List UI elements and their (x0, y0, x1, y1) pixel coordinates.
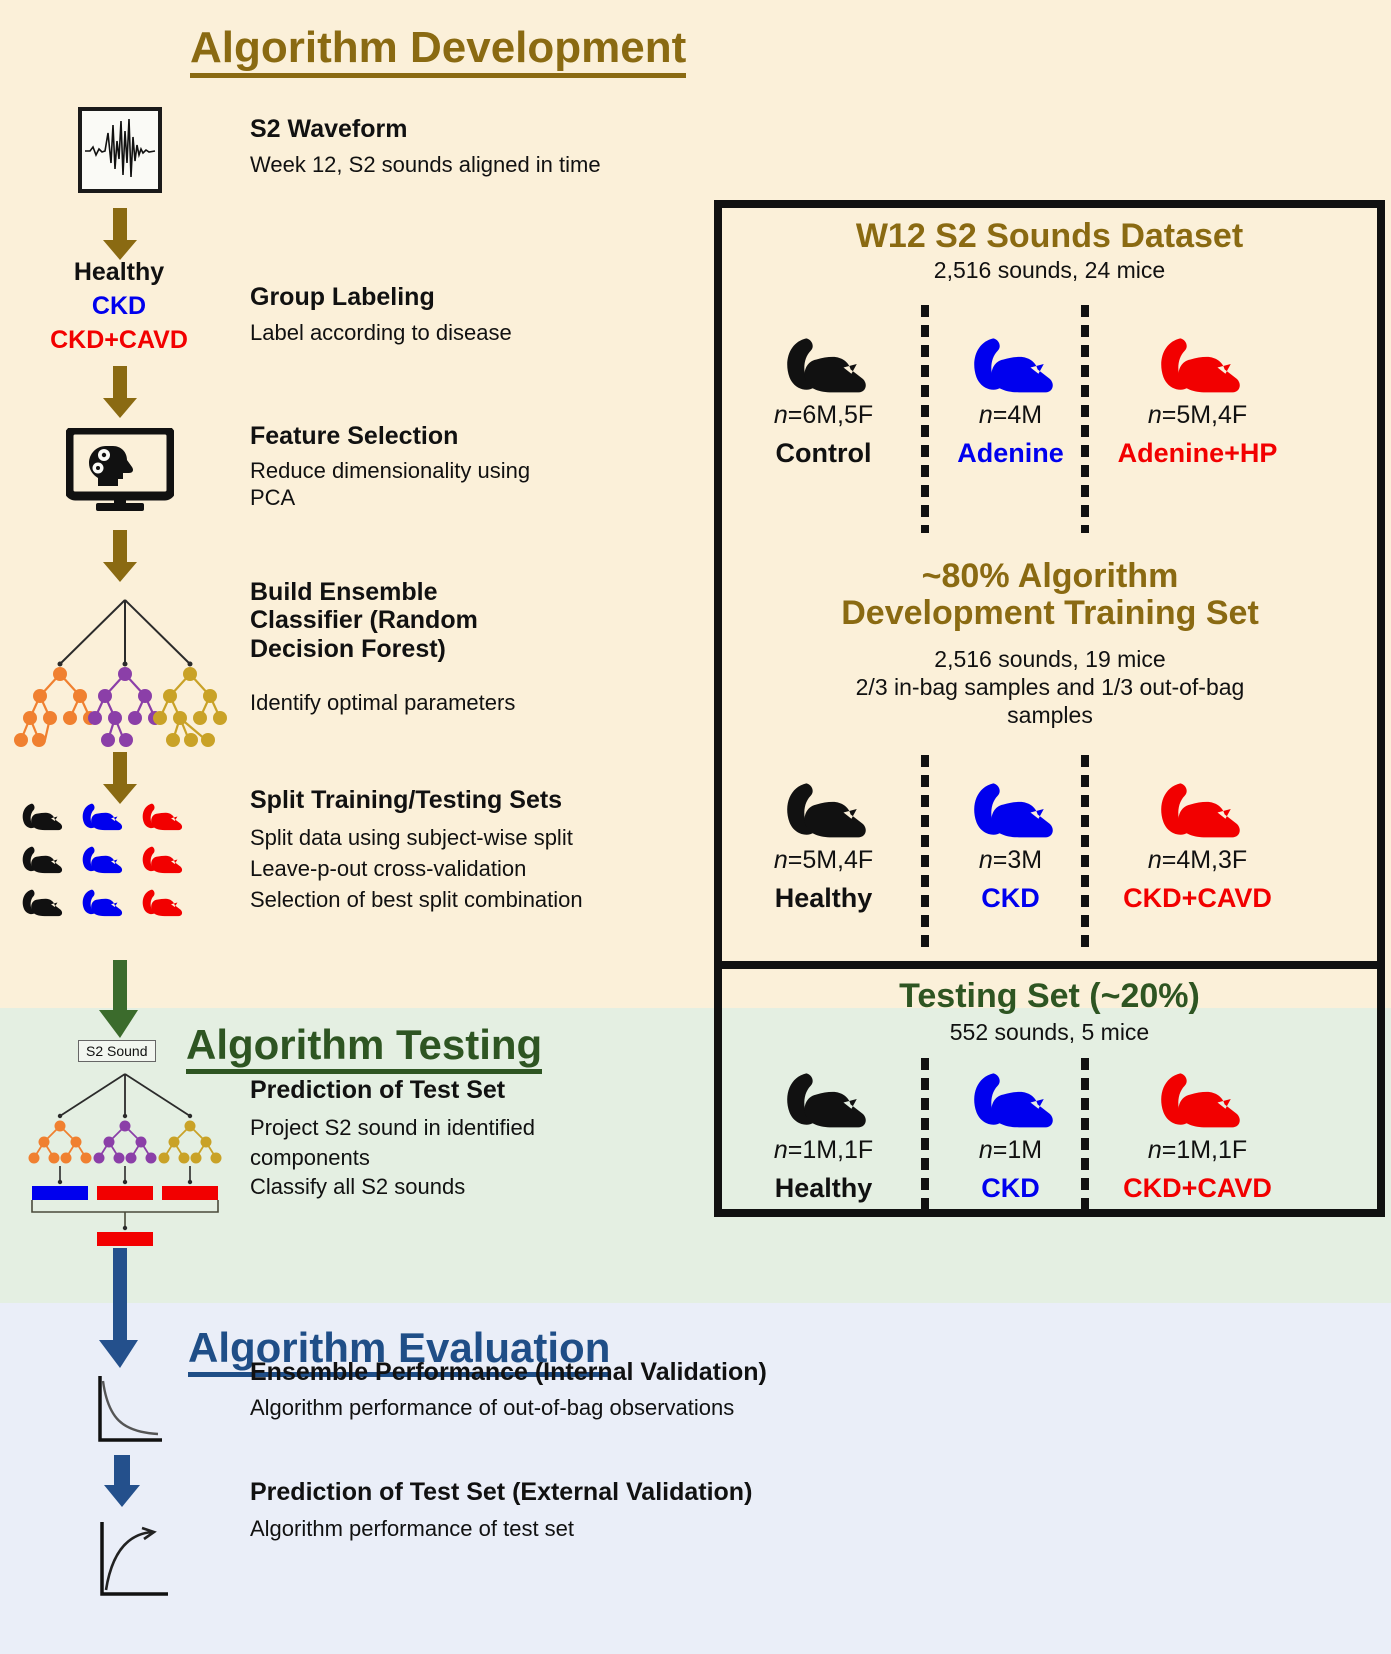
group-label-healthy: Healthy (9, 258, 229, 288)
step-body-split-sets: Split data using subject-wise split Leav… (250, 823, 700, 915)
step-body-prediction-test-set: Project S2 sound in identified component… (250, 1113, 690, 1202)
dataset-column-adenine: n=4M Adenine (917, 325, 1104, 469)
roc-curve-icon (94, 1518, 172, 1611)
dataset-label-adenine-hp: Adenine+HP (1104, 438, 1291, 469)
step-title-feature-selection: Feature Selection (250, 422, 680, 450)
step-title-build-ensemble: Build Ensemble Classifier (Random Decisi… (250, 578, 680, 663)
dataset-column-control: n=6M,5F Control (730, 325, 917, 469)
step-title-split-sets: Split Training/Testing Sets (250, 786, 700, 814)
eval-body-internal-validation: Algorithm performance of out-of-bag obse… (250, 1395, 734, 1421)
mouse-icon-red (1104, 325, 1291, 395)
dataset-n-adenine: n=4M (917, 401, 1104, 430)
training-label-ckd-cavd: CKD+CAVD (1104, 883, 1291, 914)
group-label-ckd: CKD (9, 292, 229, 322)
training-n-healthy: n=5M,4F (730, 846, 917, 875)
dataset-column-adenine-hp: n=5M,4F Adenine+HP (1104, 325, 1291, 469)
step-body-feature-selection: Reduce dimensionality using PCA (250, 458, 670, 512)
dataset-n-adenine-hp: n=5M,4F (1104, 401, 1291, 430)
eval-title-internal-validation: Ensemble Performance (Internal Validatio… (250, 1358, 767, 1387)
panel-subtitle-dataset: 2,516 sounds, 24 mice (714, 256, 1385, 284)
mouse-icon-blue (917, 325, 1104, 395)
step-body-group-labeling: Label according to disease (250, 320, 680, 347)
testing-n-healthy: n=1M,1F (730, 1136, 917, 1165)
step-title-group-labeling: Group Labeling (250, 283, 680, 311)
group-label-ckd-cavd: CKD+CAVD (9, 326, 229, 356)
flow-arrow-7 (100, 1455, 144, 1507)
monitor-brain-gears-icon (66, 428, 174, 512)
eval-body-external-validation: Algorithm performance of test set (250, 1516, 574, 1542)
dataset-label-control: Control (730, 438, 917, 469)
step-body-s2-waveform: Week 12, S2 sounds aligned in time (250, 152, 680, 179)
step-title-s2-waveform: S2 Waveform (250, 115, 670, 143)
mouse-icon-red (1104, 770, 1291, 840)
flow-arrow-6 (96, 1248, 144, 1368)
mice-grid-icon (18, 800, 184, 929)
mouse-icon-blue (917, 1060, 1104, 1130)
flow-arrow-3 (98, 530, 142, 582)
panel-heading-dataset: W12 S2 Sounds Dataset (714, 218, 1385, 255)
waveform-icon (78, 107, 162, 193)
training-n-ckd: n=3M (917, 846, 1104, 875)
dataset-group-row: n=6M,5F Control n=4M Adenine n=5M,4F Ade… (730, 325, 1291, 469)
section-title-testing: Algorithm Testing (186, 1024, 542, 1074)
s2-sound-node: S2 Sound (78, 1040, 156, 1062)
flow-arrow-4 (98, 752, 142, 804)
testing-column-ckd: n=1M CKD (917, 1060, 1104, 1204)
testing-group-row: n=1M,1F Healthy n=1M CKD n=1M,1F CKD+CAV… (730, 1060, 1291, 1204)
testing-column-healthy: n=1M,1F Healthy (730, 1060, 917, 1204)
training-column-ckd-cavd: n=4M,3F CKD+CAVD (1104, 770, 1291, 914)
testing-label-ckd: CKD (917, 1173, 1104, 1204)
training-label-ckd: CKD (917, 883, 1104, 914)
testing-n-ckd-cavd: n=1M,1F (1104, 1136, 1291, 1165)
panel-subtitle-testing: 552 sounds, 5 mice (714, 1018, 1385, 1046)
training-group-row: n=5M,4F Healthy n=3M CKD n=4M,3F CKD+CAV… (730, 770, 1291, 914)
eval-title-external-validation: Prediction of Test Set (External Validat… (250, 1478, 752, 1507)
flow-arrow-1 (98, 208, 142, 260)
testing-label-ckd-cavd: CKD+CAVD (1104, 1173, 1291, 1204)
step-body-build-ensemble: Identify optimal parameters (250, 690, 680, 717)
step-title-prediction-test-set: Prediction of Test Set (250, 1076, 690, 1104)
flow-arrow-2 (98, 366, 142, 418)
mouse-icon-black (730, 1060, 917, 1130)
dataset-n-control: n=6M,5F (730, 401, 917, 430)
figure-root: Algorithm Development Algorithm Testing … (0, 0, 1391, 1654)
testing-n-ckd: n=1M (917, 1136, 1104, 1165)
training-column-healthy: n=5M,4F Healthy (730, 770, 917, 914)
mouse-icon-black (730, 325, 917, 395)
training-n-ckd-cavd: n=4M,3F (1104, 846, 1291, 875)
flow-arrow-5 (96, 960, 144, 1038)
training-column-ckd: n=3M CKD (917, 770, 1104, 914)
training-label-healthy: Healthy (730, 883, 917, 914)
panel-heading-training: ~80% Algorithm Development Training Set (730, 558, 1370, 633)
mouse-icon-red (1104, 1060, 1291, 1130)
forest-voting-icon (8, 1072, 238, 1252)
mouse-icon-black (730, 770, 917, 840)
dataset-label-adenine: Adenine (917, 438, 1104, 469)
panel-subtitle-training: 2,516 sounds, 19 mice 2/3 in-bag samples… (724, 645, 1376, 729)
testing-column-ckd-cavd: n=1M,1F CKD+CAVD (1104, 1060, 1291, 1204)
mouse-icon-blue (917, 770, 1104, 840)
panel-divider (714, 961, 1385, 969)
decay-curve-icon (94, 1372, 166, 1455)
panel-heading-testing: Testing Set (~20%) (714, 978, 1385, 1015)
testing-label-healthy: Healthy (730, 1173, 917, 1204)
section-title-development: Algorithm Development (190, 26, 686, 78)
